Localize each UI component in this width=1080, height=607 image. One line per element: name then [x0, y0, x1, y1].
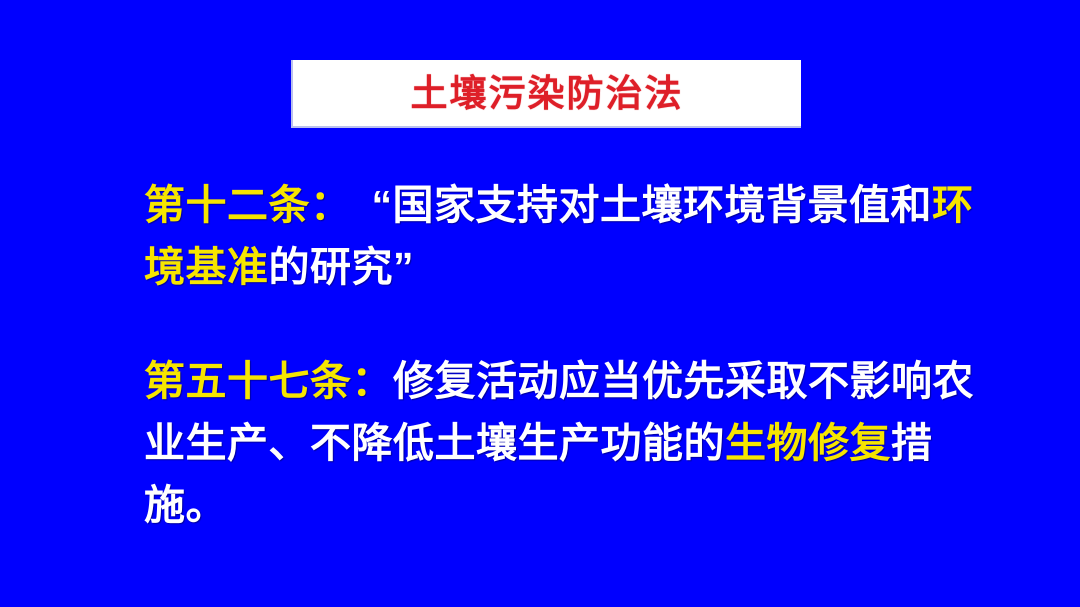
article-label-12: 第十二条： — [144, 182, 352, 228]
paragraph-article-12: 第十二条：“国家支持对土壤环境背景值和环境基准的研究” — [144, 174, 1014, 298]
slide-canvas: 土壤污染防治法 第十二条：“国家支持对土壤环境背景值和环境基准的研究” 第五十七… — [0, 0, 1080, 607]
article-12-text-part-2: 的研究” — [269, 244, 415, 290]
paragraph-article-57: 第五十七条：修复活动应当优先采取不影响农业生产、不降低土壤生产功能的生物修复措施… — [144, 350, 1014, 536]
page-title: 土壤污染防治法 — [411, 75, 684, 112]
article-label-57: 第五十七条： — [144, 358, 393, 404]
article-57-highlight: 生物修复 — [725, 420, 891, 466]
article-12-text-part-1: “国家支持对土壤环境背景值和 — [372, 182, 933, 228]
title-box: 土壤污染防治法 — [291, 60, 801, 128]
body-content: 第十二条：“国家支持对土壤环境背景值和环境基准的研究” 第五十七条：修复活动应当… — [144, 174, 1014, 536]
